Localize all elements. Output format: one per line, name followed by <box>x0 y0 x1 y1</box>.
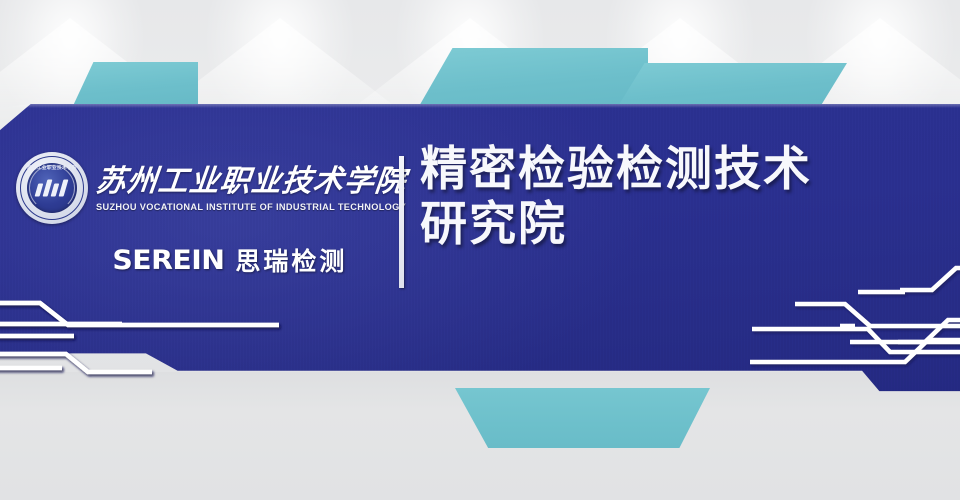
partner-logo-row: SEREIN 思瑞检测 <box>16 242 388 278</box>
institution-name-en: SUZHOU VOCATIONAL INSTITUTE OF INDUSTRIA… <box>96 202 406 212</box>
teal-trapezoid-top-left <box>72 62 198 108</box>
panel-content: 苏州工业职业技术学院 苏州工业职业技术学院 SUZHOU VOCATIONAL … <box>0 104 960 394</box>
university-emblem-icon: 苏州工业职业技术学院 <box>16 152 88 224</box>
teal-trapezoid-top-middle <box>418 48 648 108</box>
institution-logo-row: 苏州工业职业技术学院 苏州工业职业技术学院 SUZHOU VOCATIONAL … <box>16 152 388 224</box>
signage-scene: 苏州工业职业技术学院 苏州工业职业技术学院 SUZHOU VOCATIONAL … <box>0 0 960 500</box>
serein-wordmark: SEREIN <box>112 245 224 276</box>
institution-logo-block: 苏州工业职业技术学院 苏州工业职业技术学院 SUZHOU VOCATIONAL … <box>16 152 388 278</box>
partner-name-cn: 思瑞检测 <box>235 242 347 278</box>
vertical-divider-bar <box>399 156 404 288</box>
institution-name-group: 苏州工业职业技术学院 SUZHOU VOCATIONAL INSTITUTE O… <box>96 164 406 213</box>
institute-title-line1: 精密检验检测技术 <box>420 142 948 197</box>
institution-name-cn: 苏州工业职业技术学院 <box>94 166 407 198</box>
institute-title: 精密检验检测技术 研究院 <box>420 142 948 252</box>
emblem-ring-text: 苏州工业职业技术学院 <box>16 165 88 171</box>
institute-title-line2: 研究院 <box>420 197 948 252</box>
teal-trapezoid-top-right <box>617 63 847 108</box>
teal-trapezoid-bottom-center <box>455 388 710 448</box>
